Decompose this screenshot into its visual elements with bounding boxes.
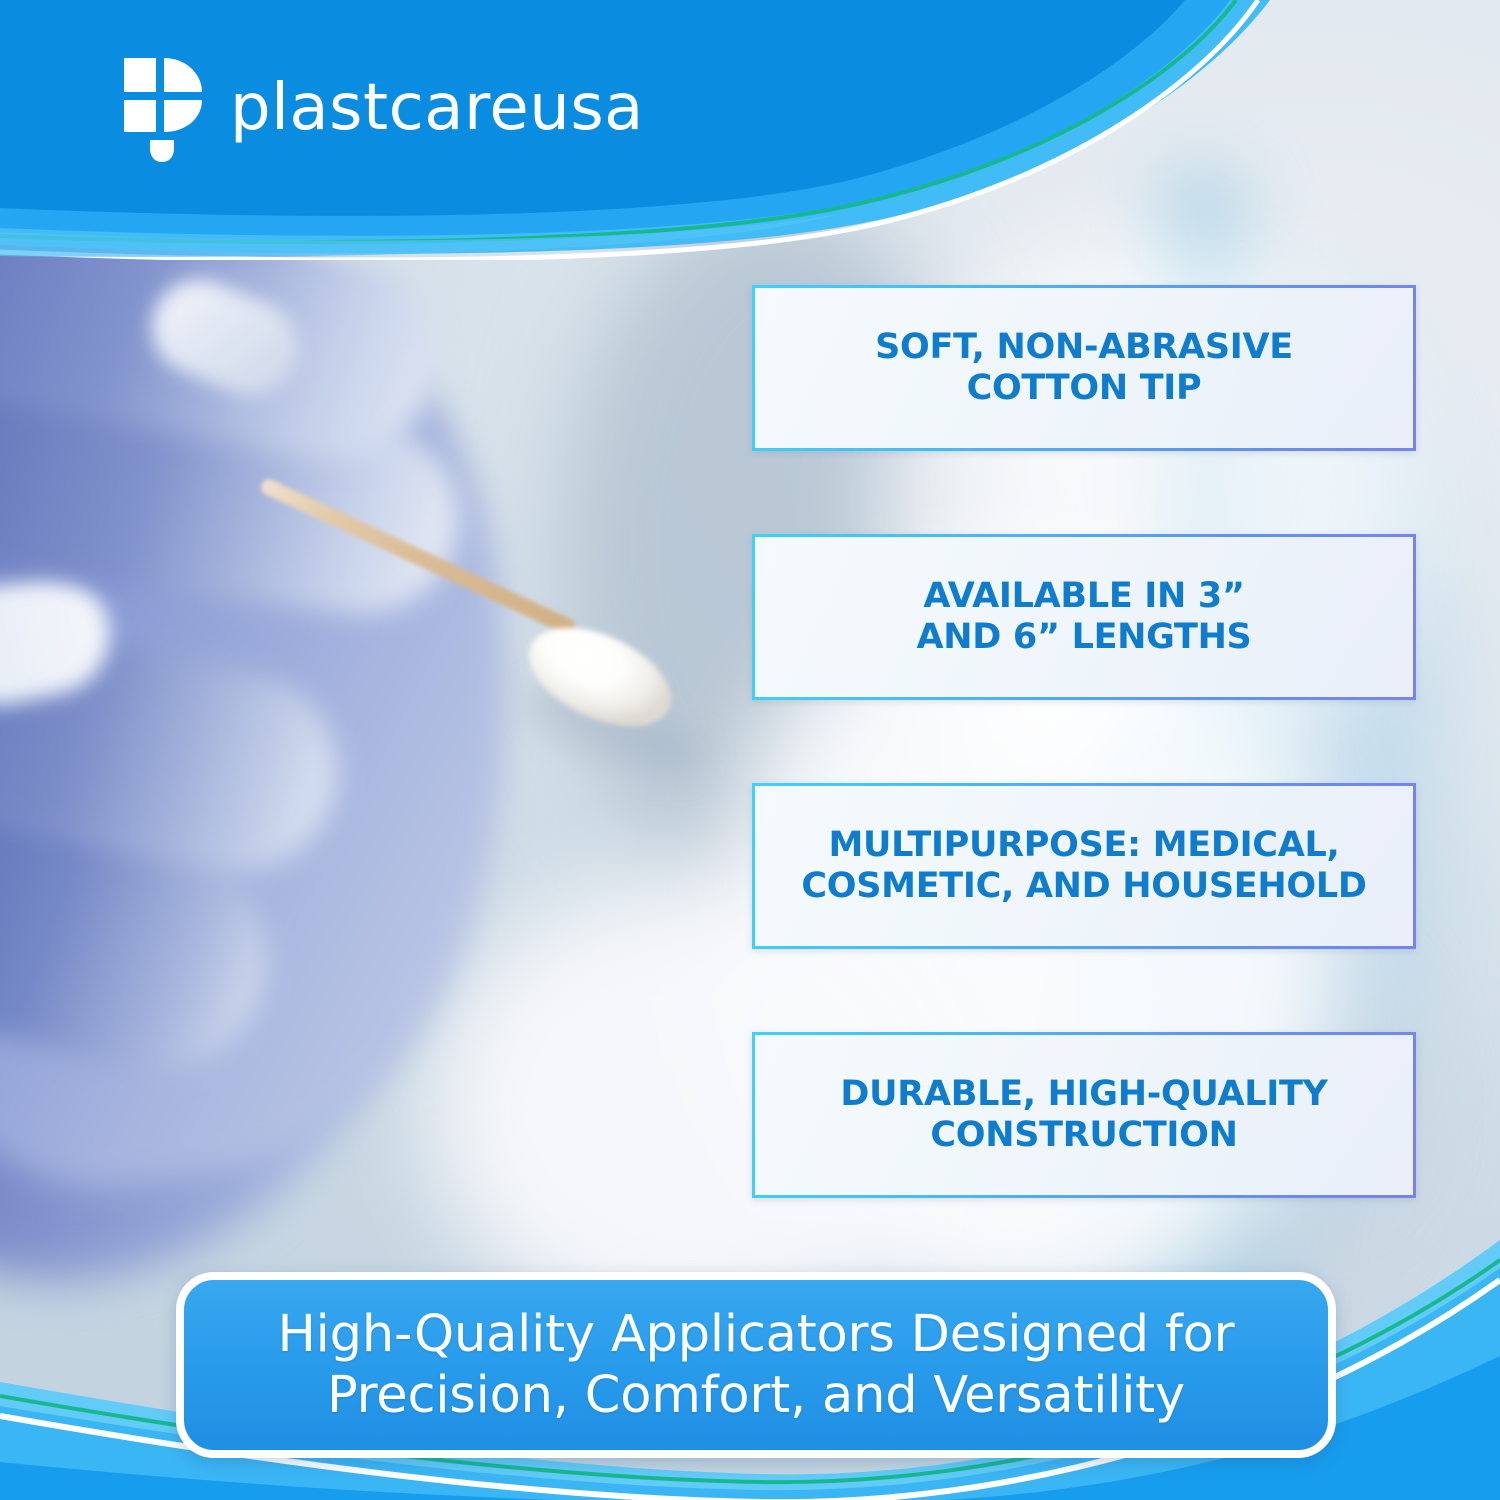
brand-name: plastcareusa <box>230 76 644 140</box>
feature-box-multipurpose-uses[interactable]: MULTIPURPOSE: MEDICAL, COSMETIC, AND HOU… <box>752 783 1416 949</box>
feature-box-inner: AVAILABLE IN 3” AND 6” LENGTHS <box>755 537 1413 697</box>
infographic-canvas: plastcareusa SOFT, NON-ABRASIVE COTTON T… <box>0 0 1500 1500</box>
feature-box-inner: MULTIPURPOSE: MEDICAL, COSMETIC, AND HOU… <box>755 786 1413 946</box>
feature-box-inner: DURABLE, HIGH-QUALITY CONSTRUCTION <box>755 1035 1413 1195</box>
feature-box-available-lengths[interactable]: AVAILABLE IN 3” AND 6” LENGTHS <box>752 534 1416 700</box>
feature-box-soft-non-abrasive-cotton-tip[interactable]: SOFT, NON-ABRASIVE COTTON TIP <box>752 285 1416 451</box>
feature-box-durable-construction[interactable]: DURABLE, HIGH-QUALITY CONSTRUCTION <box>752 1032 1416 1198</box>
headline-banner: High-Quality Applicators Designed for Pr… <box>176 1272 1336 1458</box>
plastcare-cross-shield-icon <box>122 52 204 164</box>
brand-lockup: plastcareusa <box>122 52 644 164</box>
feature-label: DURABLE, HIGH-QUALITY CONSTRUCTION <box>840 1074 1327 1155</box>
feature-label: AVAILABLE IN 3” AND 6” LENGTHS <box>917 576 1252 657</box>
feature-label: MULTIPURPOSE: MEDICAL, COSMETIC, AND HOU… <box>801 825 1366 906</box>
headline-text: High-Quality Applicators Designed for Pr… <box>278 1304 1235 1426</box>
feature-box-inner: SOFT, NON-ABRASIVE COTTON TIP <box>755 288 1413 448</box>
feature-label: SOFT, NON-ABRASIVE COTTON TIP <box>875 327 1293 408</box>
